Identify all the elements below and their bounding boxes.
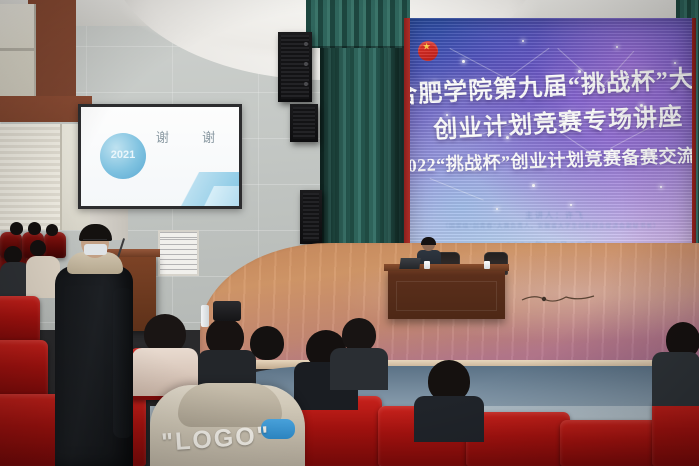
microphone-cable [520,292,596,304]
water-bottle [201,305,209,327]
star-icon: ★ [423,43,430,51]
led-emblem-group: ⚗ ★ [410,40,438,62]
thank-you-text: 谢 谢 [153,127,233,146]
led-subtitle: 2022“挑战杯”创业计划竞赛备赛交流 [410,140,692,178]
tea-cup-left [424,261,430,269]
led-speaker-credentials: （国家级“创青春”大赛负责人、安徽省大学生创新创业促进会副秘书长） [410,221,692,230]
slide-accent-sweep-secondary [171,186,239,206]
line-array-speaker-left [278,32,312,102]
hoodie-logo-text: "LOGO" [149,420,283,458]
face-mask [84,244,107,255]
left-projection-screen: 2021 谢 谢 [78,104,242,209]
curtain-valance [306,0,410,48]
backpack [213,301,241,321]
theater-seat [652,400,699,466]
audience-head [250,326,284,360]
stage-table [388,269,505,319]
led-video-wall: ⚗ ★ 合肥学院第九届“挑战杯”大 创业计划竞赛专场讲座 2022“挑战杯”创业… [410,18,692,280]
year-badge-label: 2021 [100,149,146,161]
theater-seat [0,340,48,398]
tea-cup-right [484,261,490,269]
audience-torso [330,348,388,390]
audience-torso [414,396,484,442]
theater-seat [0,296,40,342]
audience-head [342,318,376,352]
presenter-laptop [399,258,421,269]
led-main-title: 合肥学院第九届“挑战杯”大 创业计划竞赛专场讲座 [410,57,692,147]
theater-seat [0,394,62,466]
communist-youth-league-emblem: ★ [418,41,438,61]
window-upper-left [0,4,36,96]
auditorium-photo: ⚗ ★ 合肥学院第九届“挑战杯”大 创业计划竞赛专场讲座 2022“挑战杯”创业… [0,0,699,466]
line-array-speaker-right [290,104,318,142]
window-lower-left [0,124,62,230]
floor-monitor-speaker [300,190,322,244]
standing-attendee [55,228,133,466]
logo-hoodie-attendee: "LOGO" [150,385,305,466]
wall-notice-frame [158,230,199,276]
led-speaker-name: 主讲人：许飞 [418,210,692,221]
audience-torso [652,352,699,406]
